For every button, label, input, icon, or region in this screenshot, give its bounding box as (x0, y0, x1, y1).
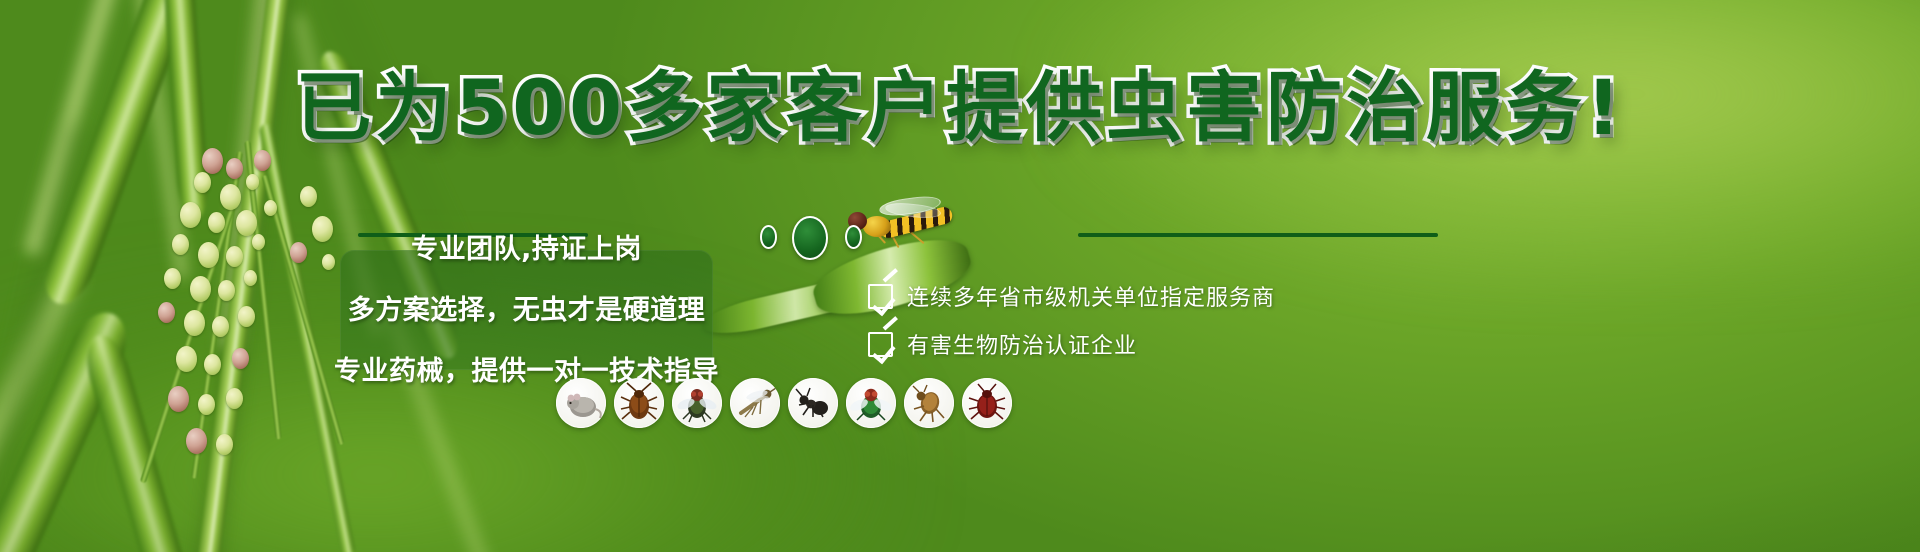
selling-points-list: 专业团队,持证上岗 多方案选择，无虫才是硬道理 专业药械，提供一对一技术指导 (340, 205, 713, 388)
page-title: 已为500多家客户提供虫害防治服务! (0, 70, 1920, 146)
cockroach-icon (614, 378, 664, 428)
checklist-item-label: 连续多年省市级机关单位指定服务商 (907, 280, 1275, 312)
pest-icon-row (556, 378, 1012, 428)
checklist-item: 有害生物防治认证企业 (868, 320, 1275, 368)
checkbox-checked-icon (868, 284, 893, 309)
mosquito-icon (730, 378, 780, 428)
ant-icon (788, 378, 838, 428)
fly-icon (672, 378, 722, 428)
divider-rule-right (1078, 233, 1438, 237)
mouse-icon (556, 378, 606, 428)
ellipse-dot-small-right-icon (845, 225, 862, 249)
ellipse-dot-large-icon (792, 216, 828, 260)
checklist-item: 连续多年省市级机关单位指定服务商 (868, 272, 1275, 320)
ellipse-dot-small-left-icon (760, 225, 777, 249)
flea-icon (904, 378, 954, 428)
page-title-text: 已为500多家客户提供虫害防治服务! (295, 63, 1624, 152)
selling-point-2: 多方案选择，无虫才是硬道理 (348, 288, 706, 327)
bedbug-icon (962, 378, 1012, 428)
certification-checklist: 连续多年省市级机关单位指定服务商 有害生物防治认证企业 (868, 272, 1275, 368)
blowfly-icon (846, 378, 896, 428)
checklist-item-label: 有害生物防治认证企业 (907, 328, 1137, 360)
selling-point-1: 专业团队,持证上岗 (411, 227, 642, 266)
pest-control-banner: 已为500多家客户提供虫害防治服务! 专业团队,持证上岗 多方案选择，无虫才是硬… (0, 0, 1920, 552)
checkbox-checked-icon (868, 332, 893, 357)
